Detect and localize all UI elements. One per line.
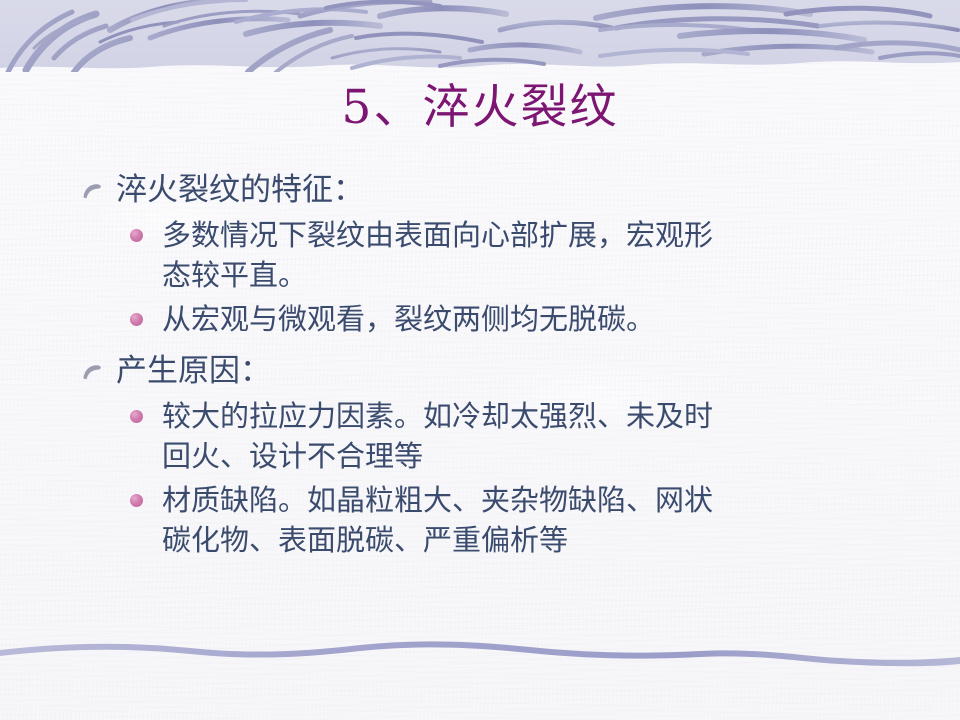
slide-body: 淬火裂纹的特征： 多数情况下裂纹由表面向心部扩展，宏观形 态较平直。 从宏观与微… bbox=[78, 170, 908, 564]
comma-hook-bullet-icon bbox=[82, 363, 102, 381]
comma-hook-bullet-icon bbox=[82, 182, 102, 200]
round-dot-bullet-icon bbox=[130, 410, 143, 423]
slide: 5、淬火裂纹 淬火裂纹的特征： 多数情况下裂纹由表面向心部扩展，宏观形 态较平直… bbox=[0, 0, 960, 720]
list-item: 多数情况下裂纹由表面向心部扩展，宏观形 态较平直。 bbox=[78, 215, 908, 295]
list-item: 材质缺陷。如晶粒粗大、夹杂物缺陷、网状 碳化物、表面脱碳、严重偏析等 bbox=[78, 480, 908, 560]
round-dot-bullet-icon bbox=[130, 229, 143, 242]
list-item: 从宏观与微观看，裂纹两侧均无脱碳。 bbox=[78, 299, 908, 339]
section-heading: 淬火裂纹的特征： bbox=[78, 170, 908, 211]
list-item-line: 碳化物、表面脱碳、严重偏析等 bbox=[162, 520, 908, 560]
section-spacer bbox=[78, 343, 908, 351]
list-item-line: 回火、设计不合理等 bbox=[162, 436, 908, 476]
round-dot-bullet-icon bbox=[130, 313, 143, 326]
round-dot-bullet-icon bbox=[130, 494, 143, 507]
list-item-line: 态较平直。 bbox=[162, 255, 908, 295]
section-heading-text: 淬火裂纹的特征： bbox=[116, 172, 364, 208]
list-item-line: 从宏观与微观看，裂纹两侧均无脱碳。 bbox=[162, 299, 908, 339]
list-item-line: 较大的拉应力因素。如冷却太强烈、未及时 bbox=[162, 396, 908, 436]
list-item-line: 材质缺陷。如晶粒粗大、夹杂物缺陷、网状 bbox=[162, 480, 908, 520]
list-item-line: 多数情况下裂纹由表面向心部扩展，宏观形 bbox=[162, 215, 908, 255]
section-heading: 产生原因： bbox=[78, 351, 908, 392]
footer-wave-decoration bbox=[0, 638, 960, 682]
section-items: 较大的拉应力因素。如冷却太强烈、未及时 回火、设计不合理等 材质缺陷。如晶粒粗大… bbox=[78, 396, 908, 560]
section-heading-text: 产生原因： bbox=[116, 353, 271, 389]
header-decoration-band bbox=[0, 0, 960, 72]
slide-title: 5、淬火裂纹 bbox=[0, 82, 960, 134]
list-item: 较大的拉应力因素。如冷却太强烈、未及时 回火、设计不合理等 bbox=[78, 396, 908, 476]
section-items: 多数情况下裂纹由表面向心部扩展，宏观形 态较平直。 从宏观与微观看，裂纹两侧均无… bbox=[78, 215, 908, 339]
